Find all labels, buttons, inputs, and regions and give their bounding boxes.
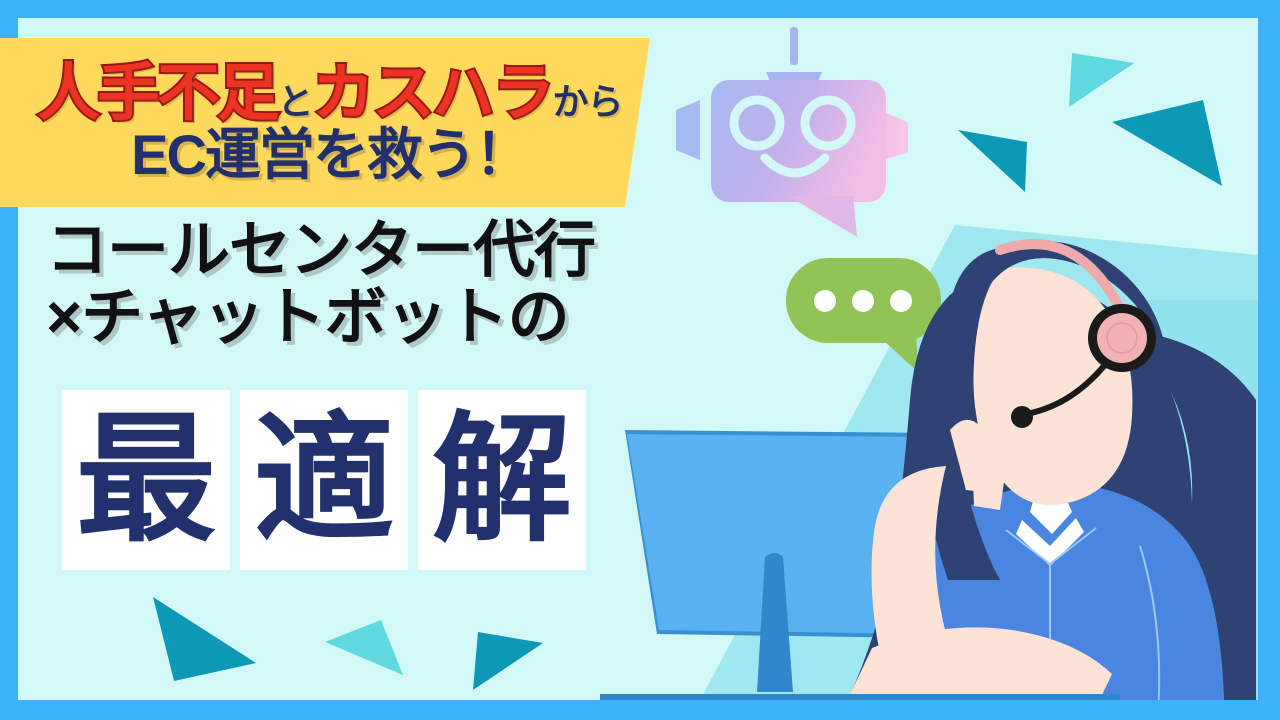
main-headline: コールセンター代行 ×チャットボットの (46, 218, 686, 352)
emphasis-box-3: 解 (418, 390, 586, 570)
banner-seg-kara: から (553, 84, 623, 120)
emphasis-box-row: 最 適 解 (62, 390, 586, 570)
emphasis-box-1: 最 (62, 390, 230, 570)
headline-line-2: ×チャットボットの (46, 285, 686, 352)
emphasis-char-2: 適 (254, 410, 394, 550)
emphasis-char-3: 解 (432, 410, 572, 550)
banner-seg-jinnshubusoku: 人手不足 (37, 63, 277, 125)
headline-banner: 人手不足 と カスハラ から EC運営を救う！ (0, 30, 660, 215)
emphasis-box-2: 適 (240, 390, 408, 570)
banner-line-2: EC運営を救う！ (131, 127, 529, 183)
banner-seg-to: と (277, 84, 312, 120)
headline-line-1: コールセンター代行 (46, 218, 686, 285)
banner-seg-kasuhara: カスハラ (313, 63, 553, 125)
banner-line-1: 人手不足 と カスハラ から (37, 63, 622, 125)
emphasis-char-1: 最 (76, 410, 216, 550)
thumbnail-canvas: 人手不足 と カスハラ から EC運営を救う！ コールセンター代行 ×チャットボ… (0, 0, 1280, 720)
